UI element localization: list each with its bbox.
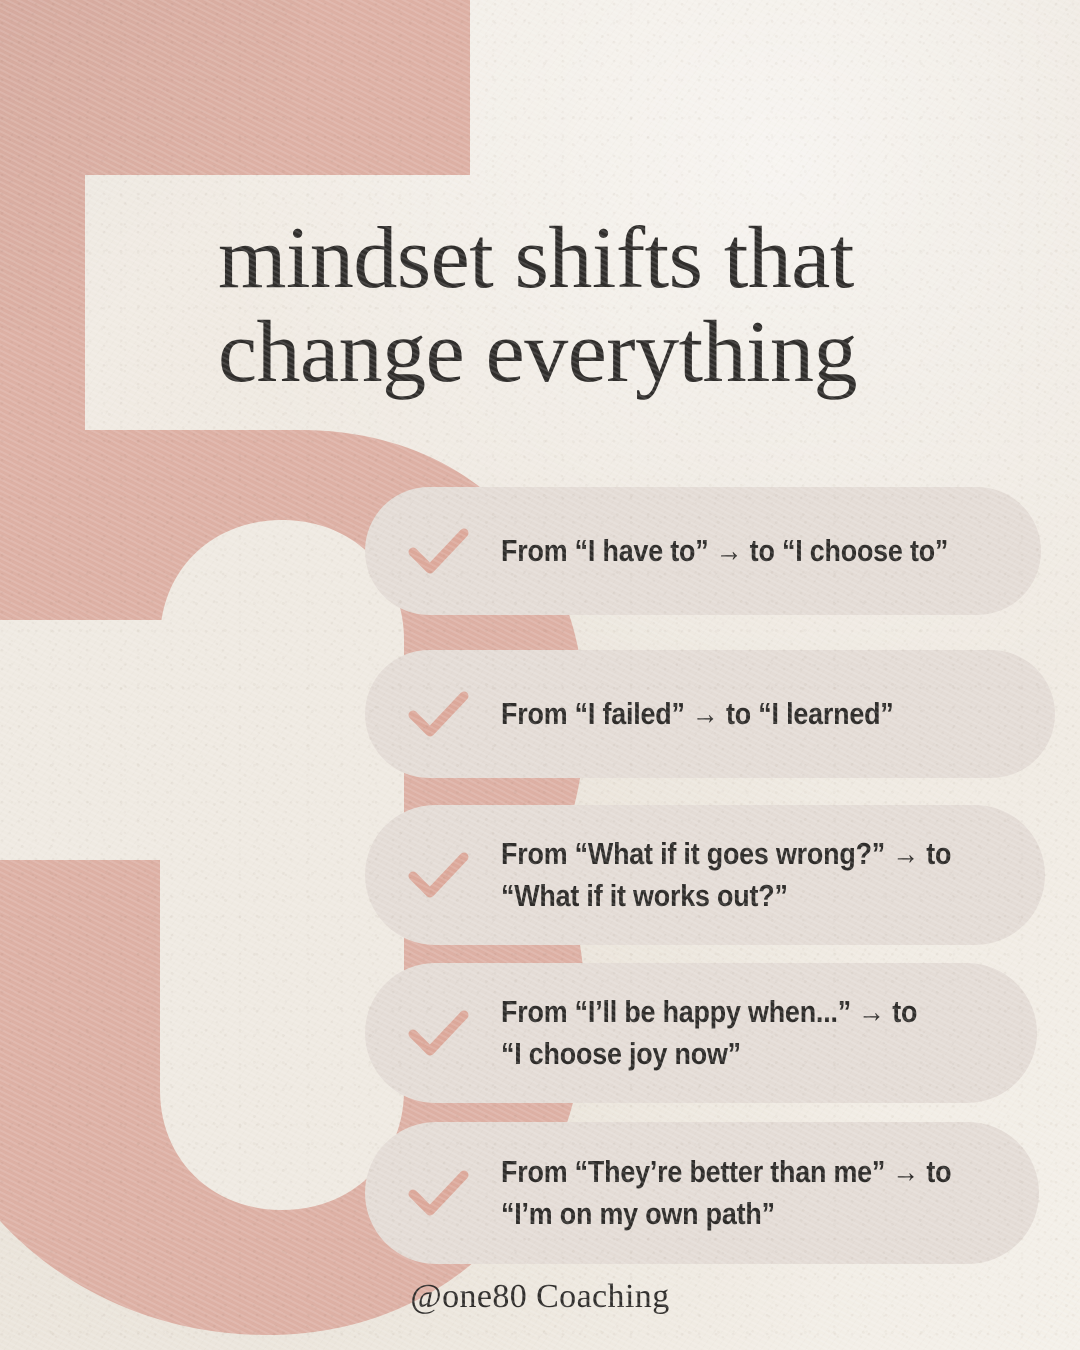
list-item[interactable]: From “They’re better than me” → to “I’m …	[365, 1122, 1039, 1264]
list-item[interactable]: From “I’ll be happy when...” → to “I cho…	[365, 963, 1037, 1103]
check-icon	[401, 514, 475, 588]
check-icon	[401, 838, 475, 912]
list-item-label: From “They’re better than me” → to “I’m …	[501, 1151, 974, 1235]
check-icon	[401, 996, 475, 1070]
mindset-shift-list: From “I have to” → to “I choose to” From…	[0, 0, 1080, 1350]
list-item-label: From “I have to” → to “I choose to”	[501, 530, 976, 572]
list-item[interactable]: From “What if it goes wrong?” → to “What…	[365, 805, 1045, 945]
check-icon	[401, 1156, 475, 1230]
list-item[interactable]: From “I failed” → to “I learned”	[365, 650, 1055, 778]
list-item-label: From “I’ll be happy when...” → to “I cho…	[501, 991, 973, 1075]
poster-canvas: mindset shifts that change everything Fr…	[0, 0, 1080, 1350]
list-item[interactable]: From “I have to” → to “I choose to”	[365, 487, 1041, 615]
list-item-label: From “I failed” → to “I learned”	[501, 693, 989, 735]
brand-handle: @one80 Coaching	[0, 1278, 1080, 1316]
check-icon	[401, 677, 475, 751]
list-item-label: From “What if it goes wrong?” → to “What…	[501, 833, 980, 917]
